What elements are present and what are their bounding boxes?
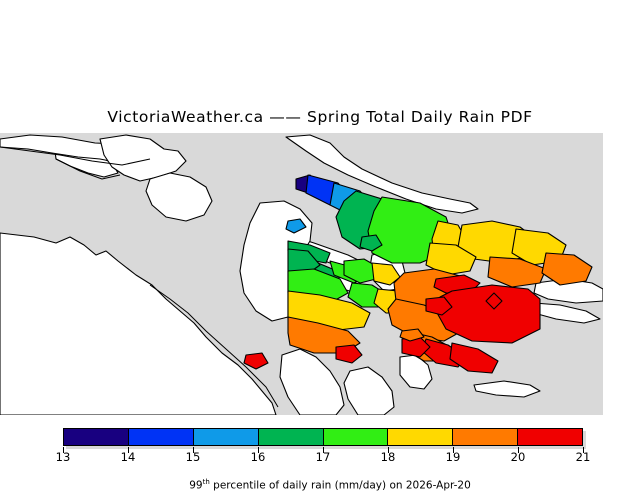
colorbar-segment-4[interactable] bbox=[324, 429, 389, 445]
choropleth-map bbox=[0, 133, 603, 415]
caption-suffix: percentile of daily rain (mm/day) on 202… bbox=[210, 480, 471, 492]
colorbar-segment-6[interactable] bbox=[453, 429, 518, 445]
colorbar-tick-label-20: 20 bbox=[511, 450, 526, 464]
colorbar-caption: 99th percentile of daily rain (mm/day) o… bbox=[0, 466, 640, 504]
colorbar-segment-1[interactable] bbox=[129, 429, 194, 445]
colorbar-strip[interactable] bbox=[63, 428, 583, 446]
colorbar-tick-label-17: 17 bbox=[316, 450, 331, 464]
caption-prefix: 99 bbox=[189, 480, 202, 492]
colorbar-tick-label-13: 13 bbox=[56, 450, 71, 464]
colorbar-tick-label-15: 15 bbox=[186, 450, 201, 464]
page-title: VictoriaWeather.ca —— Spring Total Daily… bbox=[0, 108, 640, 126]
colorbar-tick-labels: 131415161718192021 bbox=[0, 450, 640, 466]
colorbar-segment-5[interactable] bbox=[388, 429, 453, 445]
caption-superscript: th bbox=[203, 478, 210, 486]
colorbar-segment-2[interactable] bbox=[194, 429, 259, 445]
colorbar-segment-7[interactable] bbox=[518, 429, 582, 445]
colorbar-segment-3[interactable] bbox=[259, 429, 324, 445]
colorbar-tick-label-16: 16 bbox=[251, 450, 266, 464]
colorbar-tick-label-21: 21 bbox=[576, 450, 591, 464]
colorbar-tick-label-18: 18 bbox=[381, 450, 396, 464]
colorbar: 131415161718192021 99th percentile of da… bbox=[0, 420, 640, 480]
colorbar-segment-0[interactable] bbox=[64, 429, 129, 445]
colorbar-tick-label-14: 14 bbox=[121, 450, 136, 464]
map-canvas[interactable] bbox=[0, 133, 603, 415]
colorbar-tick-label-19: 19 bbox=[446, 450, 461, 464]
screenshot-root: VictoriaWeather.ca —— Spring Total Daily… bbox=[0, 0, 640, 480]
